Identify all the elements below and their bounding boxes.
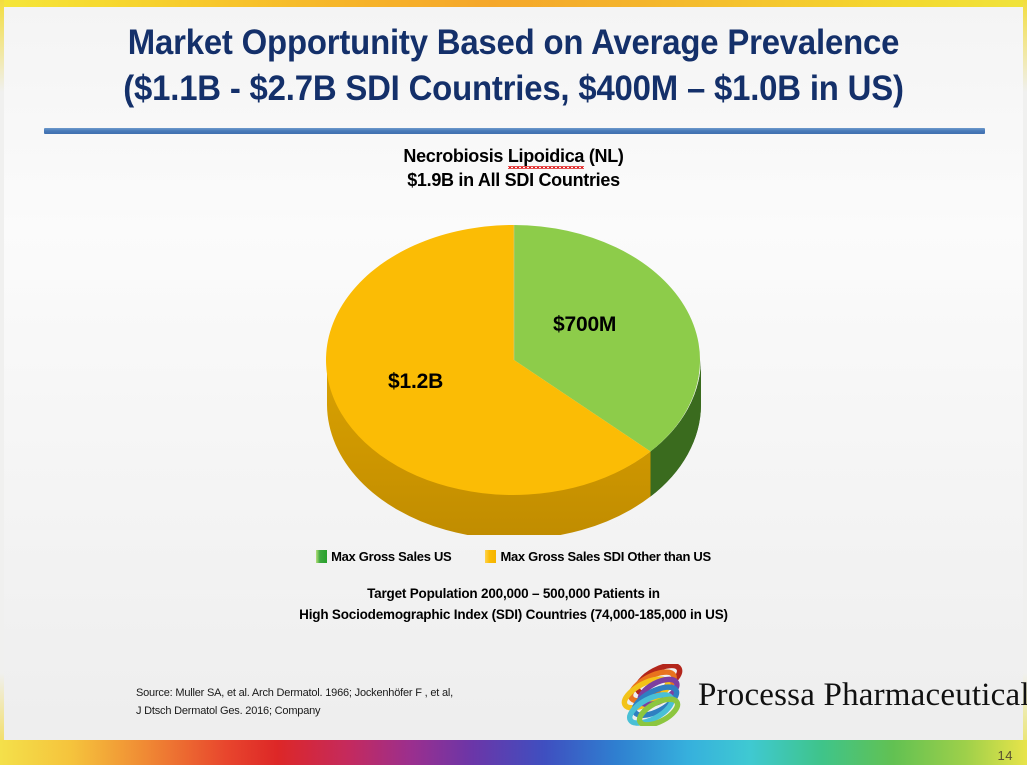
left-accent-bar (0, 0, 4, 765)
chart-title-line-2: $1.9B in All SDI Countries (0, 168, 1027, 192)
misspelled-word: Lipoidica (508, 144, 584, 168)
page-number: 14 (998, 748, 1013, 763)
source-line-1: Source: Muller SA, et al. Arch Dermatol.… (136, 684, 453, 702)
company-name: Processa Pharmaceuticals (698, 677, 1027, 714)
legend-swatch-yellow-icon (485, 550, 496, 563)
pie-chart: $700M $1.2B (300, 205, 730, 535)
chart-title-suffix: (NL) (584, 146, 623, 166)
legend-item-sdi[interactable]: Max Gross Sales SDI Other than US (485, 549, 710, 564)
source-citation: Source: Muller SA, et al. Arch Dermatol.… (136, 684, 453, 720)
right-accent-bar (1023, 0, 1027, 765)
target-population-caption: Target Population 200,000 – 500,000 Pati… (0, 583, 1027, 625)
pie-label-yellow: $1.2B (388, 370, 443, 394)
legend-label-us: Max Gross Sales US (331, 549, 451, 564)
slide: 14 Market Opportunity Based on Average P… (0, 0, 1027, 765)
legend-swatch-green-icon (316, 550, 327, 563)
slide-title-line-2: ($1.1B - $2.7B SDI Countries, $400M – $1… (31, 66, 996, 112)
pie-chart-svg (300, 205, 730, 535)
slide-title-line-1: Market Opportunity Based on Average Prev… (31, 20, 996, 66)
chart-title-line-1: Necrobiosis Lipoidica (NL) (0, 144, 1027, 168)
title-divider (44, 128, 985, 134)
chart-title: Necrobiosis Lipoidica (NL) $1.9B in All … (0, 144, 1027, 192)
legend-item-us[interactable]: Max Gross Sales US (316, 549, 451, 564)
bottom-rainbow-bar (0, 740, 1027, 765)
source-line-2: J Dtsch Dermatol Ges. 2016; Company (136, 702, 453, 720)
top-accent-bar (0, 0, 1027, 7)
company-logo: Processa Pharmaceuticals (618, 664, 1027, 726)
slide-title: Market Opportunity Based on Average Prev… (0, 20, 1027, 112)
pie-label-green: $700M (553, 313, 616, 337)
chart-legend: Max Gross Sales US Max Gross Sales SDI O… (0, 549, 1027, 564)
legend-label-sdi: Max Gross Sales SDI Other than US (500, 549, 710, 564)
target-population-line-1: Target Population 200,000 – 500,000 Pati… (0, 583, 1027, 604)
target-population-line-2: High Sociodemographic Index (SDI) Countr… (0, 604, 1027, 625)
chart-title-prefix: Necrobiosis (403, 146, 507, 166)
processa-rings-logo-icon (618, 664, 696, 726)
